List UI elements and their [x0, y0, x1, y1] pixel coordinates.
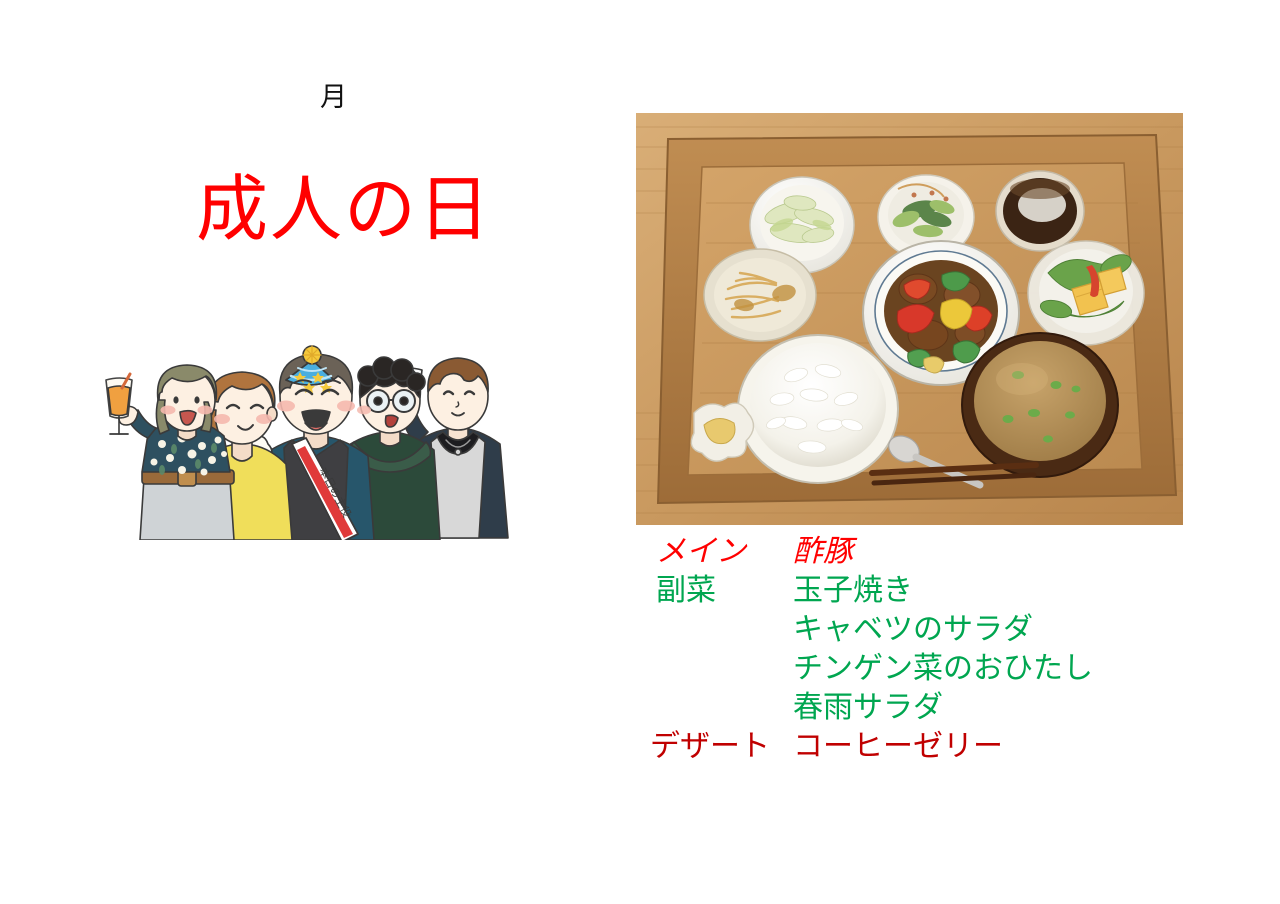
- menu-value-side-1: 玉子焼き: [793, 572, 913, 610]
- holiday-title: 成人の日: [196, 173, 492, 245]
- pickle-dish: [691, 403, 753, 461]
- menu-value-main: 酢豚: [793, 533, 853, 571]
- day-header-monday: 月: [320, 84, 347, 111]
- namul-bowl: [704, 249, 816, 341]
- menu-label-side: 副菜: [656, 572, 716, 610]
- menu-page: 月 成人の日: [0, 0, 1280, 904]
- menu-row-side-2: キャベツのサラダ: [636, 611, 1256, 650]
- menu-label-dessert: デザート: [650, 728, 770, 766]
- menu-row-side-4: 春雨サラダ: [636, 689, 1256, 728]
- menu-row-dessert: デザート コーヒーゼリー: [636, 728, 1256, 767]
- person-1: [106, 365, 234, 540]
- menu-value-side-3: チンゲン菜のおひたし: [793, 650, 1093, 688]
- menu-value-dessert: コーヒーゼリー: [793, 728, 1003, 766]
- menu-value-side-2: キャベツのサラダ: [793, 611, 1033, 649]
- menu-value-side-4: 春雨サラダ: [793, 689, 943, 727]
- menu-row-side-3: チンゲン菜のおひたし: [636, 650, 1256, 689]
- miso-soup-bowl: [962, 333, 1118, 477]
- menu-label-main: メイン: [656, 533, 746, 571]
- rice-bowl: [738, 335, 898, 483]
- menu-row-main: メイン 酢豚: [636, 533, 1256, 572]
- meal-tray-photo: [636, 113, 1183, 525]
- salad-plate: [1028, 241, 1144, 345]
- column-monday: 月 成人の日: [0, 0, 620, 904]
- sauce-glass: [996, 171, 1084, 251]
- menu-list: メイン 酢豚 副菜 玉子焼き キャベツのサラダ チンゲン菜のおひたし 春雨サラダ…: [636, 533, 1256, 767]
- menu-row-side-1: 副菜 玉子焼き: [636, 572, 1256, 611]
- coming-of-age-day-celebration-illustration: 本日の主役: [86, 282, 538, 540]
